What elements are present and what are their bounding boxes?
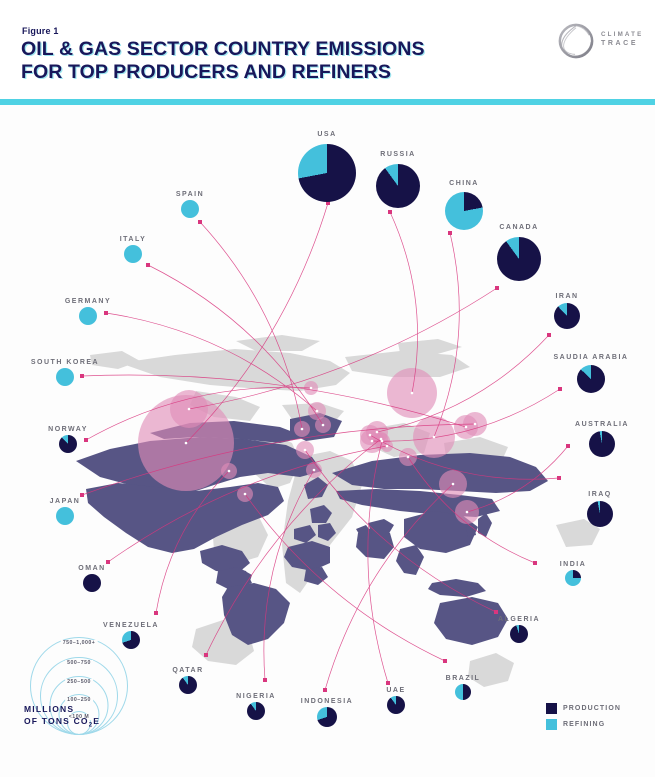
pie-chart[interactable] — [445, 192, 483, 230]
pie-chart[interactable] — [455, 684, 471, 700]
bubble-center-dot — [474, 423, 477, 426]
bubble-center-dot — [465, 426, 468, 429]
size-legend-ring-label: 500–750 — [65, 660, 93, 666]
logo-word-climate: CLIMATE — [601, 30, 643, 39]
pie-chart[interactable] — [181, 200, 199, 218]
bubble-center-dot — [452, 483, 455, 486]
bubble-center-dot — [185, 442, 188, 445]
bubble-center-dot — [313, 469, 316, 472]
logo-word-trace: TRACE — [601, 39, 643, 48]
bubble-center-dot — [316, 410, 319, 413]
connector-endpoint-dot — [84, 438, 88, 442]
country-label: BRAZIL — [446, 675, 481, 682]
pie-chart[interactable] — [387, 696, 405, 714]
bubble-center-dot — [411, 392, 414, 395]
connector-line — [434, 233, 459, 437]
connector-endpoint-dot — [495, 286, 499, 290]
country-label: NORWAY — [48, 426, 88, 433]
bubble-center-dot — [322, 424, 325, 427]
connector-endpoint-dot — [80, 374, 84, 378]
country-label: ITALY — [120, 236, 147, 243]
legend-label: REFINING — [563, 721, 605, 728]
climate-trace-mark-icon — [557, 22, 595, 60]
connector-endpoint-dot — [323, 688, 327, 692]
country-label: GERMANY — [65, 298, 111, 305]
bubble-center-dot — [310, 387, 313, 390]
connector-endpoint-dot — [104, 311, 108, 315]
logo-wordmark: CLIMATE TRACE — [601, 30, 643, 48]
bubble-center-dot — [301, 428, 304, 431]
bubble-center-dot — [433, 436, 436, 439]
connector-endpoint-dot — [80, 493, 84, 497]
pie-chart[interactable] — [317, 707, 337, 727]
country-label: OMAN — [78, 565, 105, 572]
figure-label: Figure 1 — [22, 26, 59, 36]
pie-chart[interactable] — [79, 307, 97, 325]
bubble-center-dot — [380, 438, 383, 441]
bubble-center-dot — [188, 408, 191, 411]
connector-endpoint-dot — [204, 653, 208, 657]
connector-endpoint-dot — [443, 659, 447, 663]
legend-swatch — [546, 703, 557, 714]
connector-endpoint-dot — [154, 611, 158, 615]
climate-trace-logo: CLIMATE TRACE — [517, 20, 637, 62]
title-line-2: FOR TOP PRODUCERS AND REFINERS — [21, 61, 491, 84]
connector-endpoint-dot — [494, 610, 498, 614]
country-label: INDIA — [560, 561, 587, 568]
size-legend-ring-label: 250–500 — [65, 679, 93, 685]
header: Figure 1 OIL & GAS SECTOR COUNTRY EMISSI… — [0, 0, 655, 100]
connector-endpoint-dot — [198, 220, 202, 224]
bubble-center-dot — [376, 431, 379, 434]
country-label: RUSSIA — [380, 151, 415, 158]
pie-chart[interactable] — [179, 676, 197, 694]
pie-chart[interactable] — [577, 365, 605, 393]
pie-chart[interactable] — [56, 507, 74, 525]
country-label: QATAR — [172, 667, 203, 674]
pie-chart[interactable] — [247, 702, 265, 720]
pie-chart[interactable] — [298, 144, 356, 202]
bubble-center-dot — [304, 449, 307, 452]
pie-chart[interactable] — [497, 237, 541, 281]
legend-label: PRODUCTION — [563, 705, 621, 712]
size-caption-unit: OF TONS CO — [24, 716, 89, 726]
size-caption-line2: OF TONS CO2E — [24, 715, 144, 732]
pie-chart[interactable] — [56, 368, 74, 386]
bubble-center-dot — [466, 511, 469, 514]
bubble-center-dot — [244, 493, 247, 496]
pie-chart[interactable] — [554, 303, 580, 329]
bubble-center-dot — [369, 434, 372, 437]
connector-endpoint-dot — [388, 210, 392, 214]
title-line-1: OIL & GAS SECTOR COUNTRY EMISSIONS — [21, 38, 425, 60]
bubble-center-dot — [407, 456, 410, 459]
bubble-center-dot — [371, 440, 374, 443]
bubble-center-dot — [228, 470, 231, 473]
pie-chart[interactable] — [510, 625, 528, 643]
pie-chart[interactable] — [83, 574, 101, 592]
size-legend-ring-label: 750–1,000+ — [61, 640, 98, 646]
pie-chart[interactable] — [565, 570, 581, 586]
connector-endpoint-dot — [146, 263, 150, 267]
country-label: CHINA — [449, 180, 479, 187]
size-caption-unit-end: E — [93, 716, 100, 726]
connector-endpoint-dot — [386, 681, 390, 685]
pie-chart[interactable] — [589, 431, 615, 457]
connector-endpoint-dot — [547, 333, 551, 337]
country-label: JAPAN — [50, 498, 81, 505]
category-legend: PRODUCTIONREFINING — [546, 703, 621, 735]
page-title: OIL & GAS SECTOR COUNTRY EMISSIONS FOR T… — [21, 38, 491, 84]
legend-item-production[interactable]: PRODUCTION — [546, 703, 621, 714]
country-label: SPAIN — [176, 191, 204, 198]
country-label: SAUDIA ARABIA — [554, 354, 629, 361]
country-label: ALGERIA — [498, 616, 540, 623]
legend-item-refining[interactable]: REFINING — [546, 719, 621, 730]
connector-endpoint-dot — [106, 560, 110, 564]
pie-chart[interactable] — [376, 164, 420, 208]
country-label: AUSTRALIA — [575, 421, 629, 428]
connector-endpoint-dot — [558, 387, 562, 391]
pie-chart[interactable] — [124, 245, 142, 263]
size-caption-line1: MILLIONS — [24, 703, 144, 715]
connector-endpoint-dot — [263, 678, 267, 682]
infographic-root: Figure 1 OIL & GAS SECTOR COUNTRY EMISSI… — [0, 0, 655, 777]
country-label: UAE — [386, 687, 405, 694]
pie-chart[interactable] — [587, 501, 613, 527]
country-label: USA — [317, 131, 336, 138]
connector-endpoint-dot — [557, 476, 561, 480]
country-label: NIGERIA — [236, 693, 276, 700]
bubble-center-dot — [386, 445, 389, 448]
connector-endpoint-dot — [533, 561, 537, 565]
country-label: IRAQ — [588, 491, 612, 498]
country-label: IRAN — [555, 293, 578, 300]
legend-swatch — [546, 719, 557, 730]
country-label: INDONESIA — [301, 698, 353, 705]
connector-endpoint-dot — [448, 231, 452, 235]
map-panel: USARUSSIACHINACANADAIRANSAUDIA ARABIAAUS… — [0, 105, 655, 777]
connector-endpoint-dot — [566, 444, 570, 448]
country-label: CANADA — [499, 224, 538, 231]
size-legend-caption: MILLIONS OF TONS CO2E — [24, 703, 144, 732]
country-label: SOUTH KOREA — [31, 359, 99, 366]
pie-chart[interactable] — [59, 435, 77, 453]
